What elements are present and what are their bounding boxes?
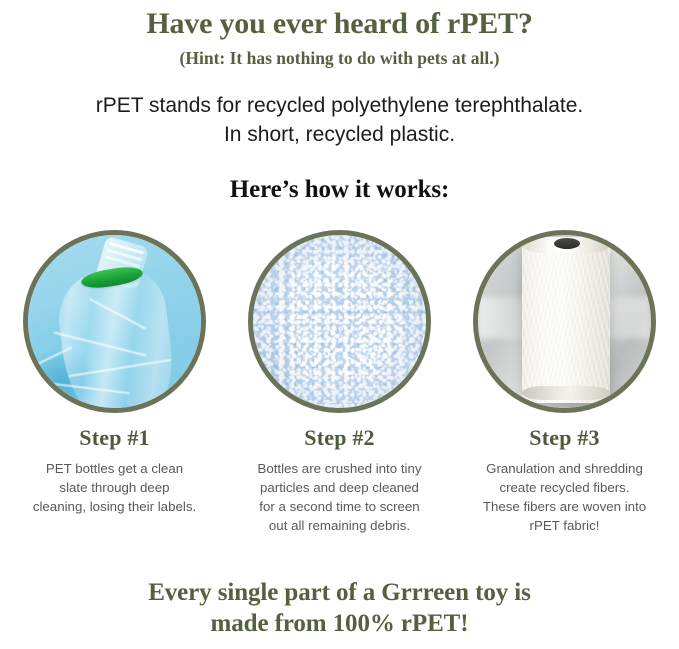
step-1-image-circle [23,230,206,413]
header-block: Have you ever heard of rPET? (Hint: It h… [0,0,679,69]
step-1-caption-line: cleaning, losing their labels. [12,498,217,517]
page-title: Have you ever heard of rPET? [0,7,679,41]
step-2-image-circle [248,230,431,413]
footer-tagline: Every single part of a Grrreen toy is ma… [0,577,679,639]
step-1-caption-line: slate through deep [12,479,217,498]
step-3-label: Step #3 [458,425,671,451]
step-3-caption: Granulation and shredding create recycle… [458,460,671,536]
footer-line-2: made from 100% rPET! [0,608,679,639]
granule-vignette [253,235,426,408]
footer-line-1: Every single part of a Grrreen toy is [0,577,679,608]
step-1-caption-line: PET bottles get a clean [12,460,217,479]
intro-line-2: In short, recycled plastic. [0,120,679,150]
spool-body [522,243,610,403]
step-2-caption-line: for a second time to screen [237,498,442,517]
step-3-image-circle [473,230,656,413]
step-3-caption-line: create recycled fibers. [462,479,667,498]
step-1-caption: PET bottles get a clean slate through de… [8,460,221,517]
intro-line-1: rPET stands for recycled polyethylene te… [96,94,584,117]
spool-bottom-rim [522,386,610,400]
step-2-caption-line: particles and deep cleaned [237,479,442,498]
rpet-infographic: Have you ever heard of rPET? (Hint: It h… [0,0,679,649]
steps-row: Step #1 PET bottles get a clean slate th… [0,230,679,536]
step-1-label: Step #1 [8,425,221,451]
step-card-1: Step #1 PET bottles get a clean slate th… [8,230,221,536]
step-3-caption-line: Granulation and shredding [462,460,667,479]
step-card-3: Step #3 Granulation and shredding create… [458,230,671,536]
step-2-caption-line: out all remaining debris. [237,517,442,536]
page-subtitle: (Hint: It has nothing to do with pets at… [0,48,679,69]
step-3-caption-line: rPET fabric! [462,517,667,536]
step-3-caption-line: These fibers are woven into [462,498,667,517]
step-card-2: Step #2 Bottles are crushed into tiny pa… [233,230,446,536]
pet-bottle-photo [28,235,201,408]
step-2-caption-line: Bottles are crushed into tiny [237,460,442,479]
step-2-label: Step #2 [233,425,446,451]
plastic-granules-photo [253,235,426,408]
thread-spool-photo [478,235,651,408]
intro-paragraph: rPET stands for recycled polyethylene te… [0,91,679,151]
step-2-caption: Bottles are crushed into tiny particles … [233,460,446,536]
section-title: Here’s how it works: [0,176,679,204]
